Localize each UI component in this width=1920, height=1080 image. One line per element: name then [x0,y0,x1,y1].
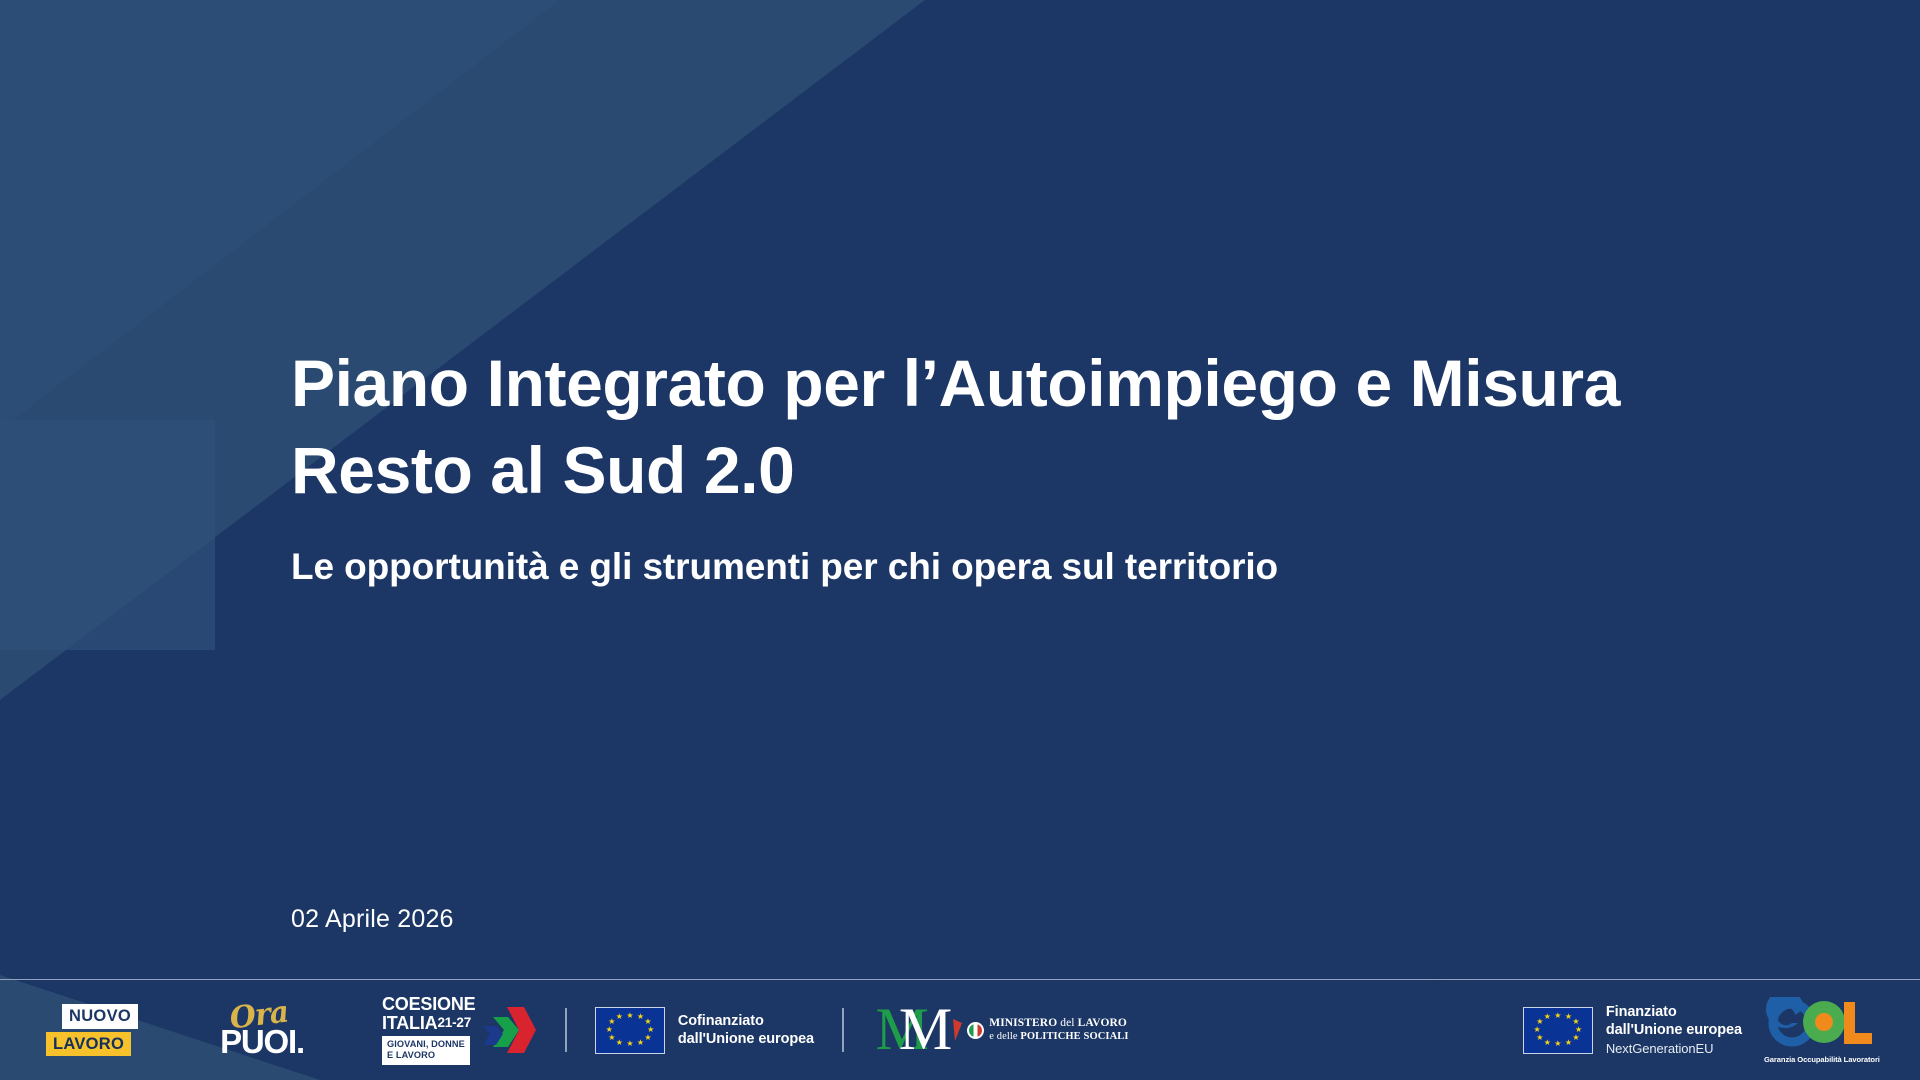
coesione-italia-logo: COESIONE ITALIA21-27 GIOVANI, DONNE E LA… [382,995,537,1065]
coesione-line2: ITALIA [382,1013,437,1033]
slide-date: 02 Aprile 2026 [291,905,454,934]
nuovo-lavoro-line2: LAVORO [46,1032,131,1057]
republic-emblem-icon [967,1022,984,1039]
cofinanziato-line2: dall'Unione europea [678,1030,814,1048]
page-subtitle: Le opportunità e gli strumenti per chi o… [291,542,1801,592]
coesione-sub-line2: E LAVORO [387,1050,465,1062]
coesione-line1: COESIONE [382,995,475,1013]
cofinanziato-ue-logo: ★ ★ ★ ★ ★ ★ ★ ★ ★ ★ ★ ★ Cofinanziato dal… [595,1007,814,1054]
finanziato-line1: Finanziato [1606,1003,1742,1021]
page-title: Piano Integrato per l’Autoimpiego e Misu… [291,340,1751,514]
coesione-chevron-icon [477,1004,537,1056]
eu-flag-icon: ★ ★ ★ ★ ★ ★ ★ ★ ★ ★ ★ ★ [1523,1007,1593,1054]
footer-separator [565,1008,567,1052]
ministero-word-del: del [1060,1017,1074,1029]
gol-logo: Garanzia Occupabilità Lavoratori [1764,997,1876,1064]
footer-logo-bar: NUOVO LAVORO Ora PUOI. COESIONE ITALIA21… [0,979,1920,1080]
ministero-line1: MINISTERO del LAVORO [989,1017,1128,1031]
finanziato-line2: dall'Unione europea [1606,1021,1742,1039]
ministero-word-lavoro: LAVORO [1078,1017,1127,1029]
finanziato-line3: NextGenerationEU [1606,1041,1742,1057]
gol-wordmark-icon [1766,997,1874,1049]
coesione-sub-line1: GIOVANI, DONNE [387,1039,465,1051]
ministero-word-edelle: e delle [989,1031,1017,1042]
ministero-word-politiche: POLITICHE SOCIALI [1020,1031,1128,1042]
nuovo-lavoro-logo: NUOVO LAVORO [46,1004,142,1056]
ministero-word-ministero: MINISTERO [989,1017,1057,1029]
slide-text-block: Piano Integrato per l’Autoimpiego e Misu… [291,340,1801,592]
footer-logos-left: NUOVO LAVORO Ora PUOI. COESIONE ITALIA21… [0,995,1129,1065]
finanziato-ue-logo: ★ ★ ★ ★ ★ ★ ★ ★ ★ ★ ★ ★ Finanziato dall'… [1523,1003,1742,1058]
ministero-monogram: MM [876,1005,951,1054]
ministero-line2: e delle POLITICHE SOCIALI [989,1031,1128,1044]
italian-flag-icon [951,1017,964,1043]
cofinanziato-line1: Cofinanziato [678,1012,814,1030]
coesione-subtitle: GIOVANI, DONNE E LAVORO [382,1036,470,1065]
footer-logos-right: ★ ★ ★ ★ ★ ★ ★ ★ ★ ★ ★ ★ Finanziato dall'… [1523,997,1876,1064]
eu-flag-icon: ★ ★ ★ ★ ★ ★ ★ ★ ★ ★ ★ ★ [595,1007,665,1054]
ora-puoi-logo: Ora PUOI. [212,1003,312,1058]
coesione-years: 21-27 [437,1015,471,1030]
ministero-lavoro-logo: MM MINISTERO del LAVORO e delle POLITICH… [876,1005,1129,1054]
presentation-slide: Piano Integrato per l’Autoimpiego e Misu… [0,0,1920,1080]
nuovo-lavoro-line1: NUOVO [62,1004,138,1029]
gol-caption: Garanzia Occupabilità Lavoratori [1764,1055,1876,1064]
footer-separator [842,1008,844,1052]
